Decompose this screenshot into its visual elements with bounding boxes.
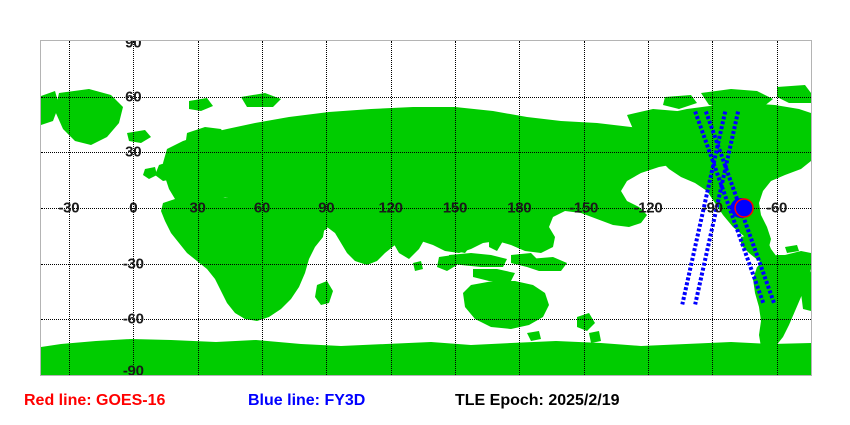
legend-entry-goes16: Red line: GOES-16	[24, 392, 165, 410]
satellite-track-map-page: -300306090120150180-150-120-90-609060300…	[0, 0, 850, 425]
legend-entry-fy3d: Blue line: FY3D	[248, 392, 365, 410]
world-map-landmass	[41, 41, 811, 375]
legend-entry-tle-epoch: TLE Epoch: 2025/2/19	[455, 392, 620, 410]
map-plot-area: -300306090120150180-150-120-90-609060300…	[40, 40, 812, 376]
map-legend: Red line: GOES-16 Blue line: FY3D TLE Ep…	[0, 392, 850, 422]
